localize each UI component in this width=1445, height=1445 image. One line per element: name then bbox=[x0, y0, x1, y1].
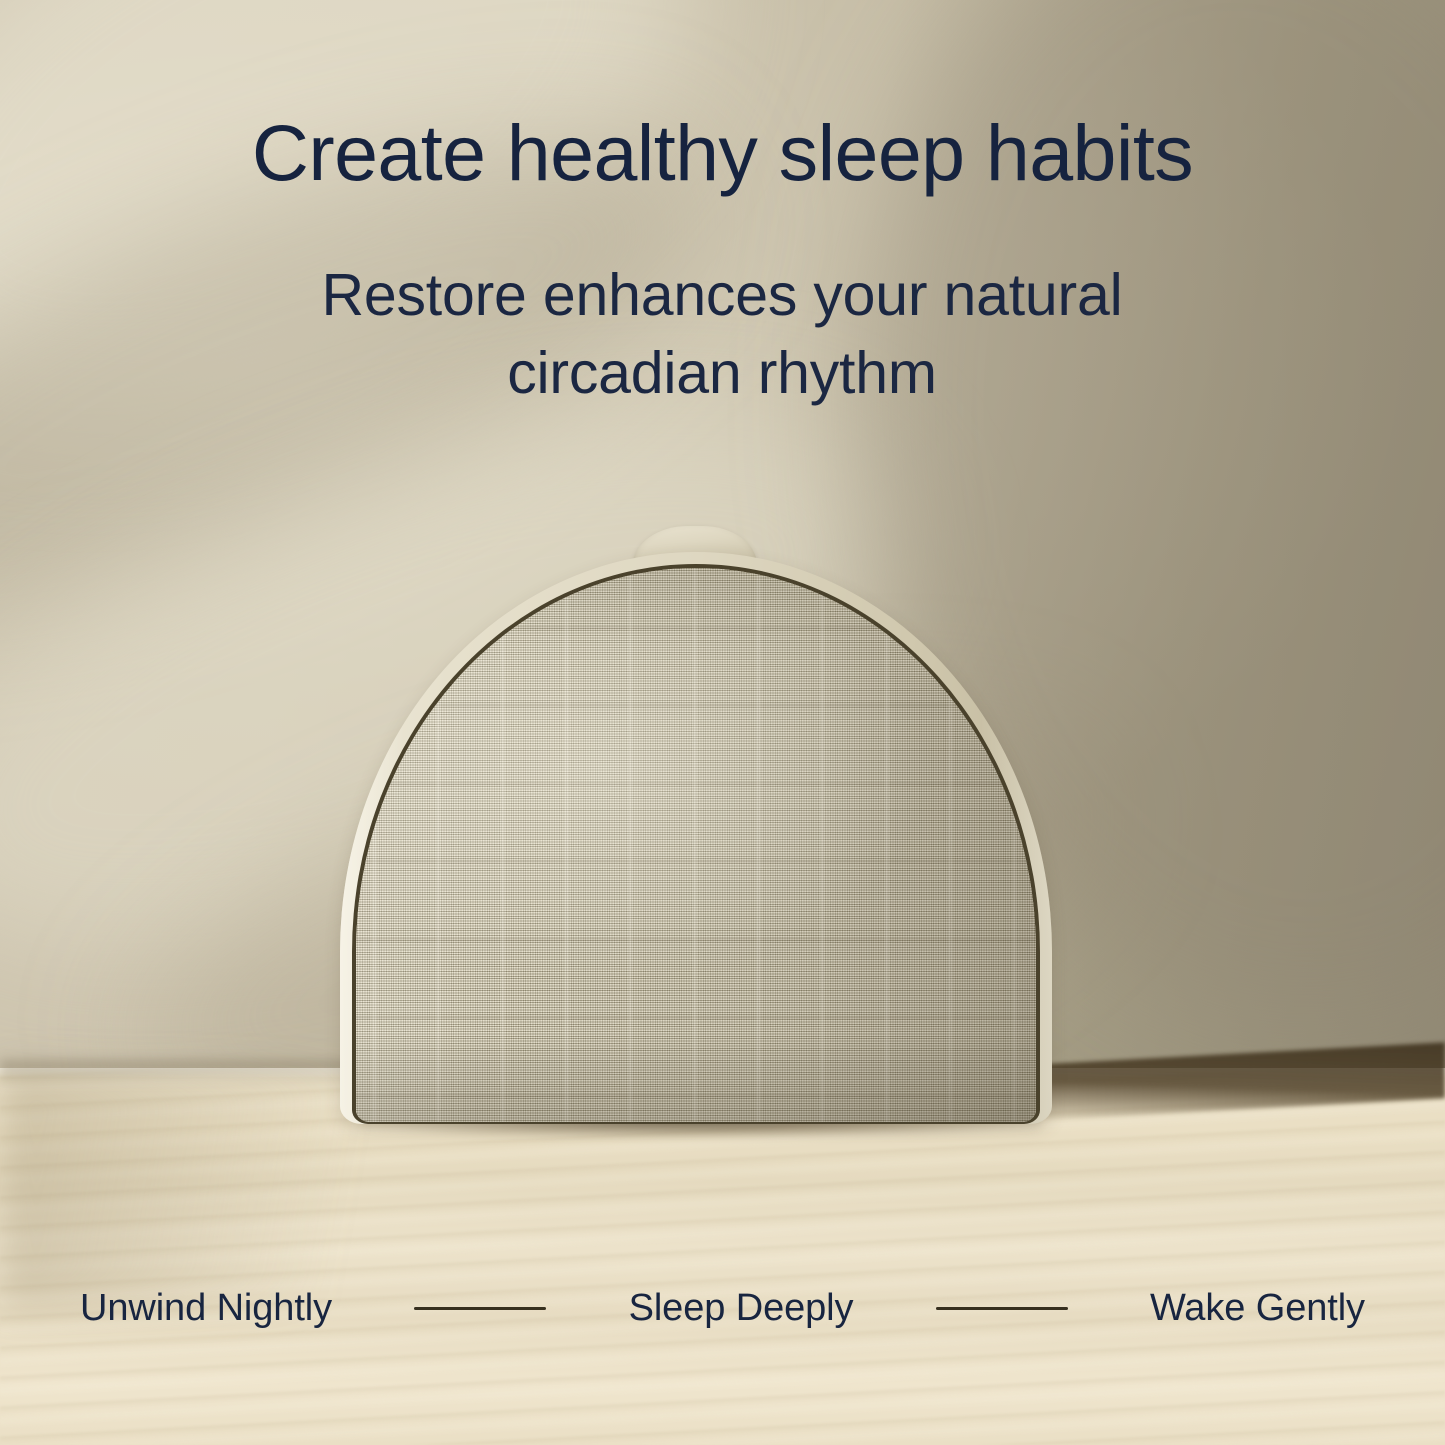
caption-unwind-nightly: Unwind Nightly bbox=[80, 1287, 332, 1330]
caption-wake-gently: Wake Gently bbox=[1150, 1287, 1365, 1330]
benefit-caption-row: Unwind Nightly Sleep Deeply Wake Gently bbox=[80, 1281, 1365, 1335]
page-title: Create healthy sleep habits bbox=[0, 112, 1445, 195]
caption-divider-icon bbox=[414, 1307, 546, 1310]
subtitle-line-2: circadian rhythm bbox=[272, 334, 1172, 412]
product-device bbox=[340, 524, 1052, 1124]
linen-shading bbox=[356, 568, 1036, 1122]
caption-sleep-deeply: Sleep Deeply bbox=[629, 1287, 854, 1330]
product-lifestyle-scene: Create healthy sleep habits Restore enha… bbox=[0, 0, 1445, 1445]
subtitle: Restore enhances your natural circadian … bbox=[272, 256, 1172, 413]
caption-divider-icon bbox=[936, 1307, 1068, 1310]
subtitle-line-1: Restore enhances your natural bbox=[272, 256, 1172, 334]
linen-grille bbox=[356, 568, 1036, 1122]
